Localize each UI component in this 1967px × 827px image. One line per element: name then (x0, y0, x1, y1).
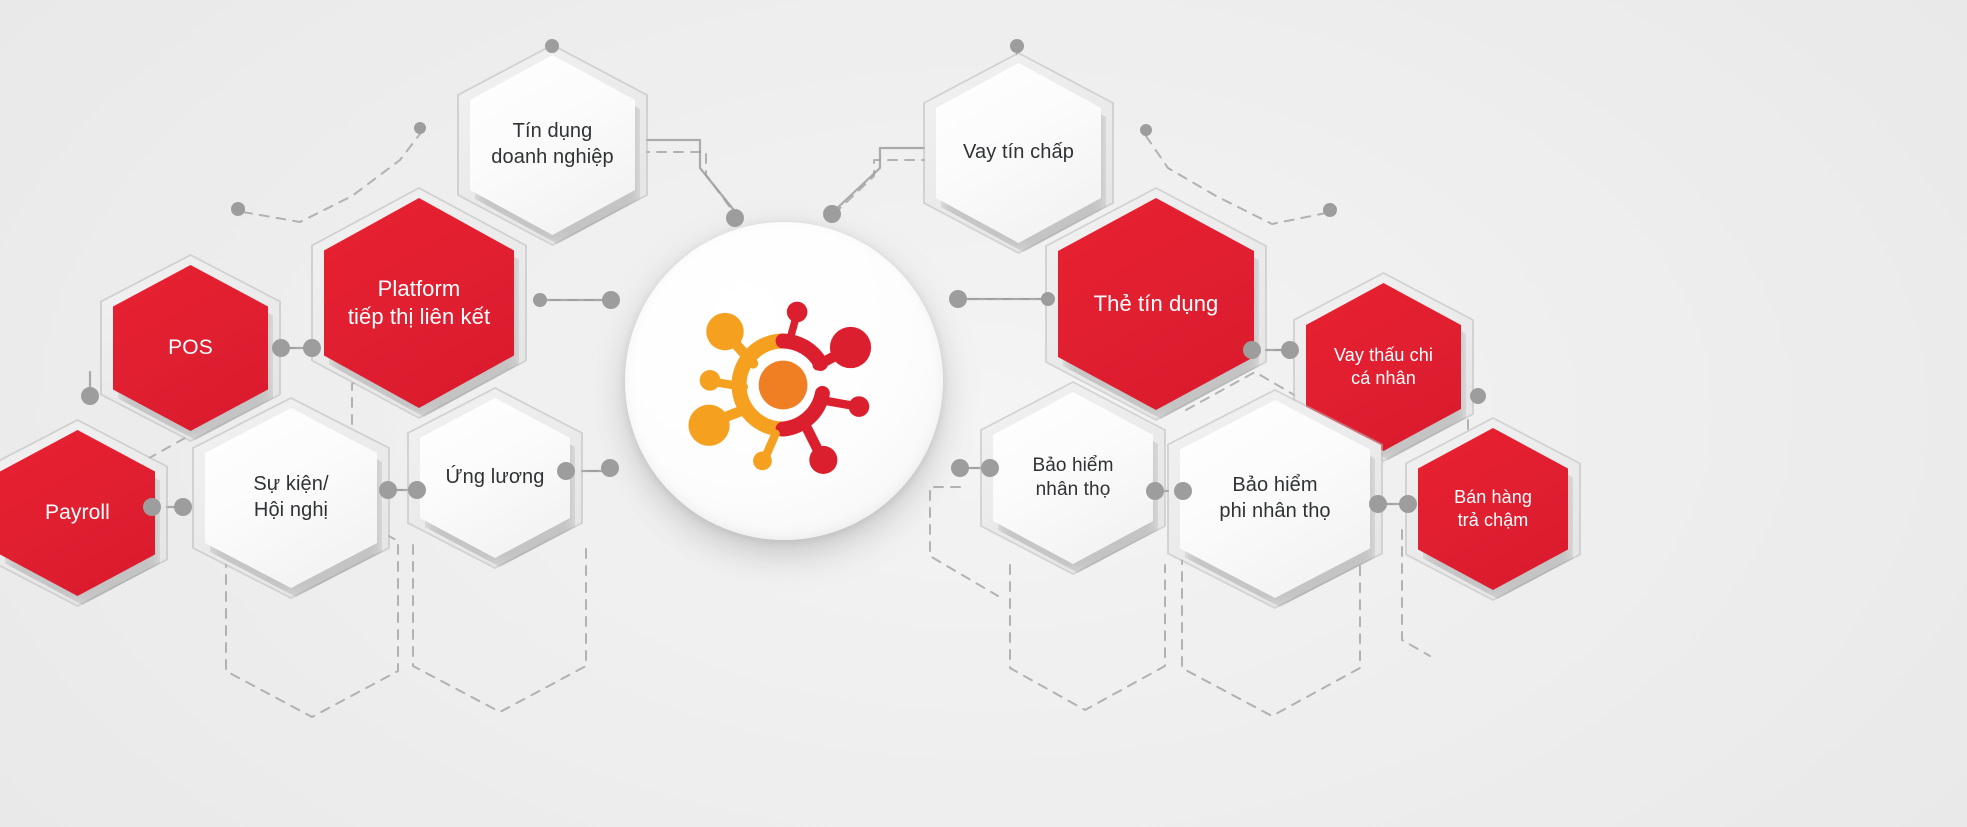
dot-bao-hiem-pnt-right (1369, 495, 1387, 513)
line-tindung-center (640, 140, 737, 214)
dot-platform-right (533, 293, 547, 307)
hex-node-pos[interactable]: POS (113, 265, 268, 431)
dot-platform-left (303, 339, 321, 357)
hex-node-tin-dung-doanh-nghiep[interactable]: Tín dụng doanh nghiệp (470, 55, 635, 235)
dot-pos-bottom-left (81, 387, 99, 405)
hex-label: Vay tín chấp (955, 140, 1082, 166)
ecosystem-diagram: PayrollPOSSự kiện/ Hội nghịỨng lươngPlat… (0, 0, 1967, 827)
hex-label: Bảo hiểm nhân thọ (1024, 454, 1121, 503)
dot-bao-hiem-pnt-left (1174, 482, 1192, 500)
hex-label: Platform tiếp thị liên kết (340, 275, 498, 331)
dot-vay-thau-chi-left (1281, 341, 1299, 359)
dot-dash-left-upper (231, 202, 245, 216)
dash-outline-right-1 (1010, 565, 1165, 710)
hex-label: Bảo hiểm phi nhân thọ (1211, 473, 1338, 524)
line-vaytinchap-center (833, 148, 931, 212)
dot-payroll-right (143, 498, 161, 516)
dot-ung-luong-right (557, 462, 575, 480)
dash-outline-left-3 (413, 545, 586, 712)
hex-label: Bán hàng trả chậm (1446, 486, 1540, 532)
dot-tin-dung-top (545, 39, 559, 53)
dot-su-kien-left (174, 498, 192, 516)
dot-dash-right-upper (1140, 124, 1152, 136)
dot-center-right-bottom (951, 459, 969, 477)
hex-node-su-kien-hoi-nghi[interactable]: Sự kiện/ Hội nghị (205, 408, 377, 588)
dot-pos-right (272, 339, 290, 357)
hex-node-payroll[interactable]: Payroll (0, 430, 155, 596)
dot-su-kien-right (379, 481, 397, 499)
hex-label: Ứng lương (438, 465, 553, 491)
hex-label: Tín dụng doanh nghiệp (483, 119, 621, 170)
hex-node-ung-luong[interactable]: Ứng lương (420, 398, 570, 558)
hex-label: POS (160, 335, 221, 362)
hex-node-bao-hiem-phi-nhan-tho[interactable]: Bảo hiểm phi nhân thọ (1180, 400, 1370, 598)
hex-node-bao-hiem-nhan-tho[interactable]: Bảo hiểm nhân thọ (993, 392, 1153, 564)
dot-center-right-top (823, 205, 841, 223)
dot-dash-left-upper2 (414, 122, 426, 134)
network-molecule-logo (683, 296, 885, 474)
hex-node-the-tin-dung[interactable]: Thẻ tín dụng (1058, 198, 1254, 410)
logo-svg (683, 296, 885, 474)
dash-vaytinchap-center (834, 160, 931, 214)
dot-vay-thau-chi-right (1470, 388, 1486, 404)
dot-ban-hang-left (1399, 495, 1417, 513)
dot-bao-hiem-nt-left (981, 459, 999, 477)
dot-ung-luong-left (408, 481, 426, 499)
dot-center-left-bottom (601, 459, 619, 477)
hex-label: Sự kiện/ Hội nghị (245, 472, 336, 523)
dot-center-left-top (726, 209, 744, 227)
dot-bao-hiem-nt-right (1146, 482, 1164, 500)
hex-node-ban-hang-tra-cham[interactable]: Bán hàng trả chậm (1418, 428, 1568, 590)
dot-the-tin-dung-right (1243, 341, 1261, 359)
dot-center-left-mid (602, 291, 620, 309)
dot-center-right-mid (949, 290, 967, 308)
dot-vay-tin-chap-top (1010, 39, 1024, 53)
dot-the-tin-dung-left (1041, 292, 1055, 306)
hex-label: Vay thấu chi cá nhân (1326, 344, 1441, 390)
dot-dash-right-upper2 (1323, 203, 1337, 217)
dash-tindung-center (640, 152, 735, 214)
hex-label: Payroll (37, 500, 118, 527)
hex-label: Thẻ tín dụng (1086, 290, 1227, 318)
